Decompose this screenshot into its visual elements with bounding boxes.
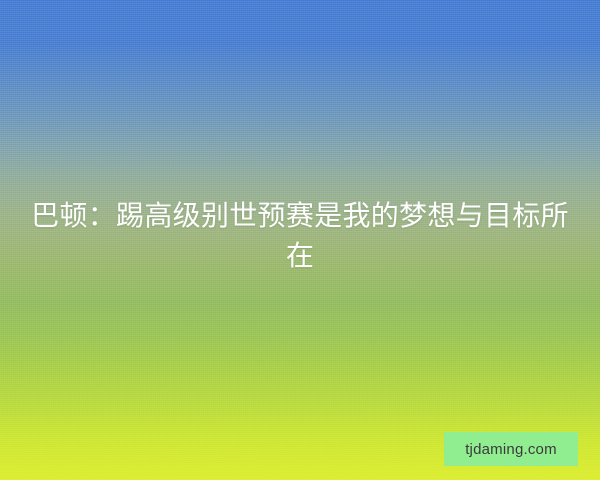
watermark-label: tjdaming.com <box>465 442 557 457</box>
headline-text: 巴顿：踢高级别世预赛是我的梦想与目标所在 <box>28 196 572 276</box>
thumbnail-card: 巴顿：踢高级别世预赛是我的梦想与目标所在 tjdaming.com <box>0 0 600 480</box>
watermark-badge: tjdaming.com <box>444 432 578 466</box>
